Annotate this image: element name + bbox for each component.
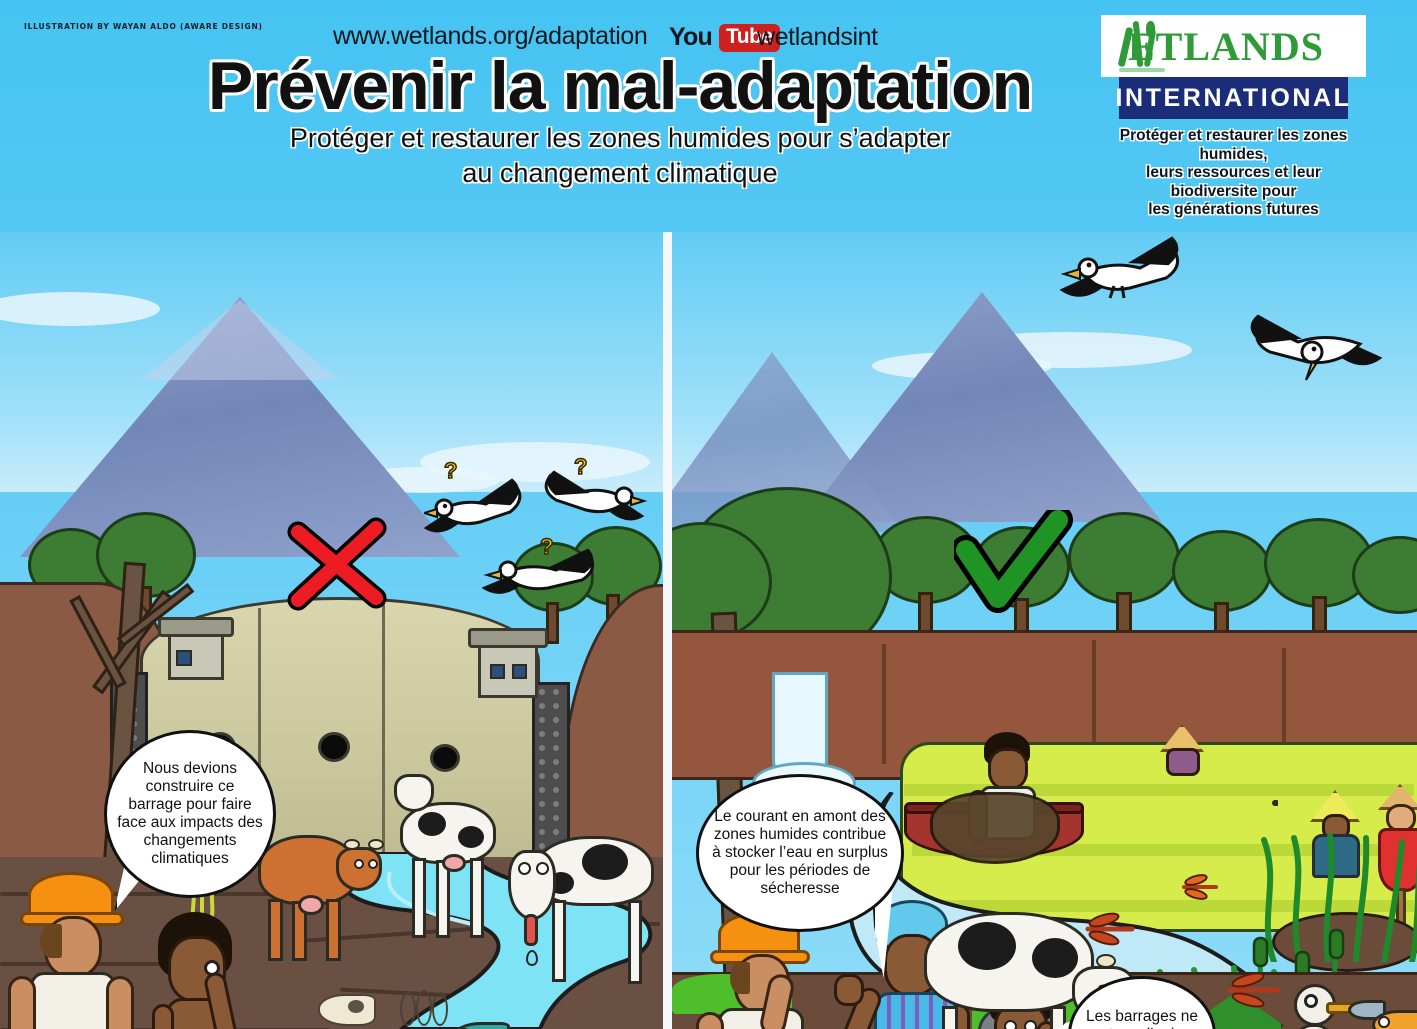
cow-udder [442,854,466,872]
dragonfly-red-1 [1080,912,1140,951]
cow-eye [518,862,531,875]
cow-udder [298,895,324,915]
cow-eye [368,859,378,869]
cow-tongue [524,914,538,946]
wetlands-international-logo[interactable]: ETLANDS INTERNATIONAL Protéger et restau… [1101,15,1366,220]
panel-divider [663,232,672,1029]
engineer-arm [106,976,134,1029]
water-drop [526,950,538,966]
villager-arm [152,1004,174,1029]
boy-eye [1024,1020,1037,1029]
speech-bubble-wetland-storage[interactable]: Le courant en amont des zones humides co… [696,774,904,932]
dam-tower-window [512,664,527,679]
engineer-hair [40,924,62,958]
jumping-fish [1272,800,1278,806]
question-mark-icon: ? [574,454,587,480]
boy-eye [1004,1020,1017,1029]
poster-subtitle-line2: au changement climatique [120,158,1120,190]
poster-title: Prévenir la mal-adaptation [120,52,1120,120]
cow-leg [552,900,566,982]
cow-leg [412,858,426,938]
logo-wordmark: ETLANDS [1128,23,1324,70]
dam-tower-right [478,644,538,698]
engineer-tank-top [30,972,116,1029]
illustration-credit: ILLUSTRATION BY WAYAN ALDO (AWARE DESIGN… [24,22,263,31]
logo-international-text: INTERNATIONAL [1115,84,1351,113]
cow-horn [344,839,360,850]
website-url[interactable]: www.wetlands.org/adaptation [333,22,647,51]
cow-head-lowered [508,850,556,920]
cow-head [394,774,434,812]
rib-bones [400,992,416,1026]
woman-hand [834,974,864,1006]
dam-tower-window [176,650,192,666]
logo-tagline-line2: leurs ressources et leur biodiversite po… [1101,164,1366,201]
panel-wetland-restoration: Le courant en amont des zones humides co… [672,232,1417,1029]
panel-maladaptation-dam: Nous devions construire ce barrage pour … [0,232,663,1029]
poster-header: ILLUSTRATION BY WAYAN ALDO (AWARE DESIGN… [0,0,1417,232]
dam-tower-window [490,664,505,679]
dam-tower-roof-right [468,628,548,648]
fish-eye [1378,1016,1390,1028]
cow-eye [354,859,364,869]
tree-canopy [1172,530,1272,612]
engineer-hair [730,962,750,994]
cow-horn [1096,954,1116,968]
stork-eye [1304,994,1318,1008]
rib-bones [432,992,448,1026]
dam-outlet-hole [318,732,350,762]
logo-tagline-line1: Protéger et restaurer les zones humides, [1101,127,1366,164]
skull-eye-socket [348,1000,364,1013]
farmer-back [1166,748,1200,776]
logo-tagline-line3: les générations futures [1101,201,1366,220]
speech-bubble-dams-text: Les barrages ne sont pas l’unique soluti… [1081,1008,1203,1029]
fisherman-head [988,748,1028,790]
cow-leg [268,899,283,961]
speech-bubble-dam[interactable]: Nous devions construire ce barrage pour … [104,730,276,898]
cow-head [336,847,382,891]
stork-bird-flying-right-1 [1060,232,1190,307]
cow-spot [1032,938,1078,978]
dragonfly-orange-small [1178,874,1222,905]
cow-leg [436,860,450,938]
question-mark-icon: ? [540,534,553,560]
fishing-net-with-catch [930,792,1060,864]
dragonfly-red-2 [1222,972,1286,1013]
logo-lower-navy-band: INTERNATIONAL [1119,77,1348,119]
cow-leg [942,1006,958,1029]
animal-skull [318,994,376,1026]
stork-bird-flying-right-2 [1232,304,1382,387]
cow-spot [958,922,1016,970]
logo-upper-white-band: ETLANDS [1101,15,1366,77]
cow-horn [368,839,384,850]
cow-leg [470,858,484,938]
cow-leg [628,900,642,984]
dam-tower-roof-left [158,617,234,637]
cow-spot [418,812,446,836]
question-mark-icon: ? [444,458,457,484]
stork-bird-questioning-1 [424,472,534,541]
dam-outlet-hole [430,744,460,772]
poster-root: ILLUSTRATION BY WAYAN ALDO (AWARE DESIGN… [0,0,1417,1029]
red-x-mark-icon [278,514,396,614]
poster-subtitle-line1: Protéger et restaurer les zones humides … [120,123,1120,155]
tree-canopy [1068,512,1180,604]
stork-bird-questioning-2 [532,464,648,529]
cliff-crack [882,644,886,764]
title-block: Prévenir la mal-adaptation Protéger et r… [120,52,1120,190]
cow-spot [458,826,484,848]
cow-spot [582,844,628,880]
logo-tagline: Protéger et restaurer les zones humides,… [1101,127,1366,220]
rib-bones [416,990,432,1026]
cow-leg [326,899,341,961]
speech-bubble-dam-text: Nous devions construire ce barrage pour … [117,760,263,869]
cow-eye [536,862,549,875]
green-check-mark-icon [954,510,1074,618]
engineer-arm [8,976,36,1029]
speech-bubble-wetland-storage-text: Le courant en amont des zones humides co… [709,808,891,899]
